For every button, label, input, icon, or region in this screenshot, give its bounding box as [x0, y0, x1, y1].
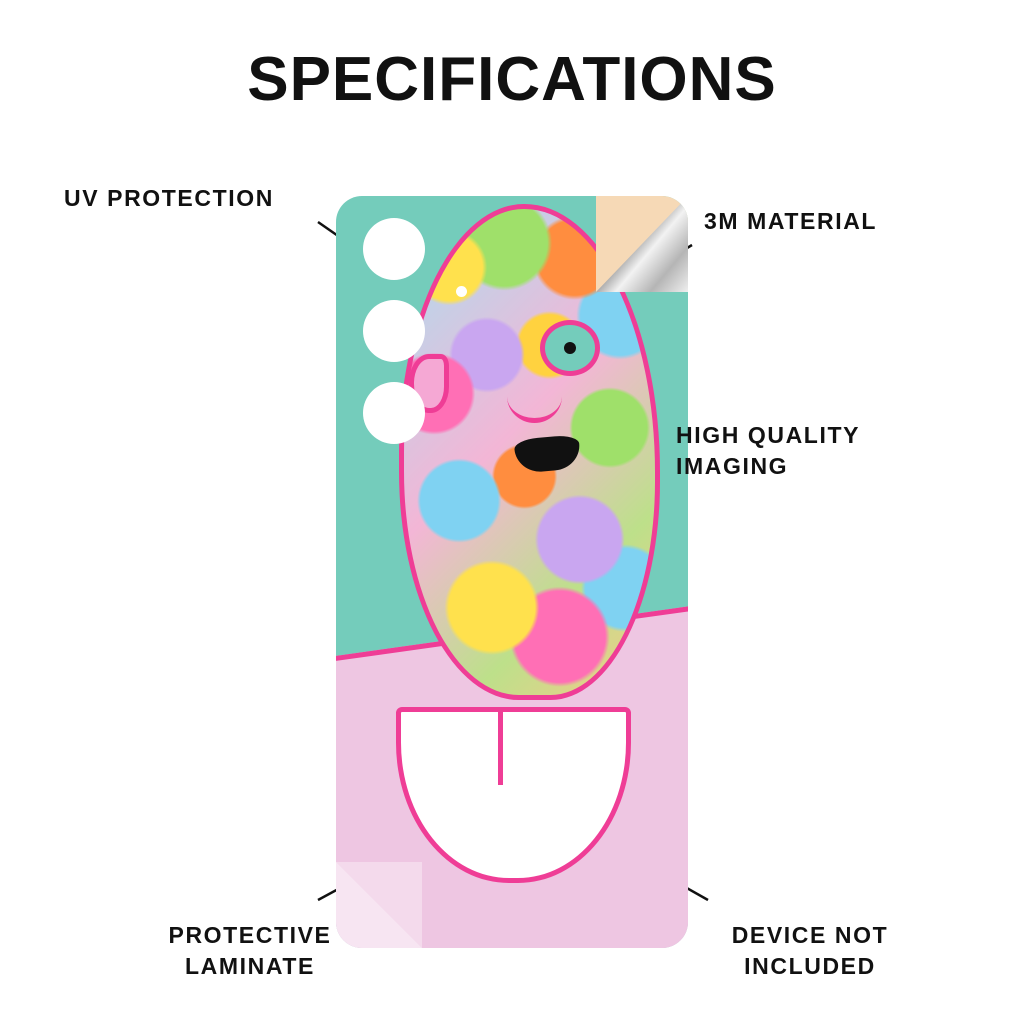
callout-label-3m-material: 3M MATERIAL — [704, 206, 877, 237]
camera-lens-1-icon — [363, 218, 425, 280]
camera-flash-icon — [456, 286, 467, 297]
callout-label-high-quality-imaging: HIGH QUALITY IMAGING — [676, 420, 860, 482]
callout-label-uv-protection: UV PROTECTION — [64, 183, 274, 214]
skin-eye — [540, 320, 600, 376]
3m-material-peel-corner — [596, 196, 688, 292]
camera-lens-3-icon — [363, 382, 425, 444]
page-title: SPECIFICATIONS — [0, 44, 1024, 115]
skin-mouth — [513, 434, 581, 474]
specifications-graphic: SPECIFICATIONS UV PRO — [0, 0, 1024, 1024]
callout-label-device-not-included: DEVICE NOT INCLUDED — [660, 920, 960, 982]
skin-smile-line — [507, 369, 562, 423]
skin-pupil — [564, 342, 576, 354]
callout-label-protective-laminate: PROTECTIVE LAMINATE — [110, 920, 390, 982]
phone-with-skin — [336, 196, 688, 948]
camera-lens-2-icon — [363, 300, 425, 362]
